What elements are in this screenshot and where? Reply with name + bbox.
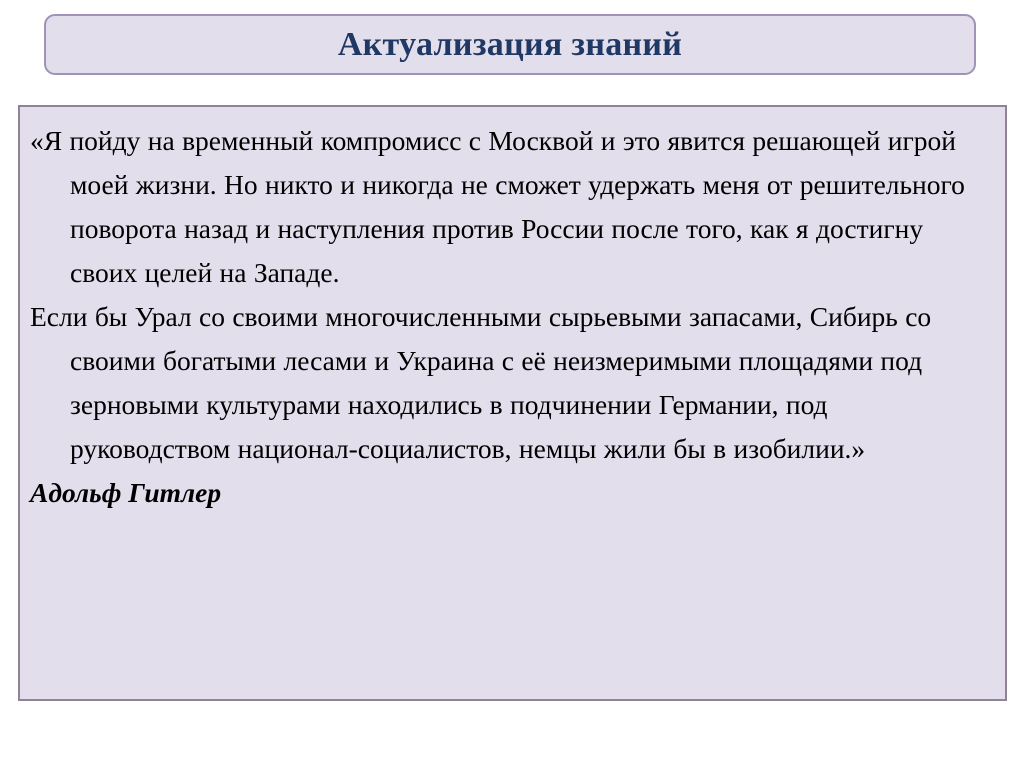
quote-paragraph-1: «Я пойду на временный компромисс с Москв… [30,119,991,295]
slide-content-box: «Я пойду на временный компромисс с Москв… [18,105,1007,701]
slide-title-box: Актуализация знаний [44,14,976,75]
quote-paragraph-2: Если бы Урал со своими многочисленными с… [30,295,991,471]
quote-attribution: Адольф Гитлер [30,471,991,515]
quotation-body: «Я пойду на временный компромисс с Москв… [30,119,991,515]
page-title: Актуализация знаний [338,28,682,62]
slide: Актуализация знаний «Я пойду на временны… [0,0,1024,767]
